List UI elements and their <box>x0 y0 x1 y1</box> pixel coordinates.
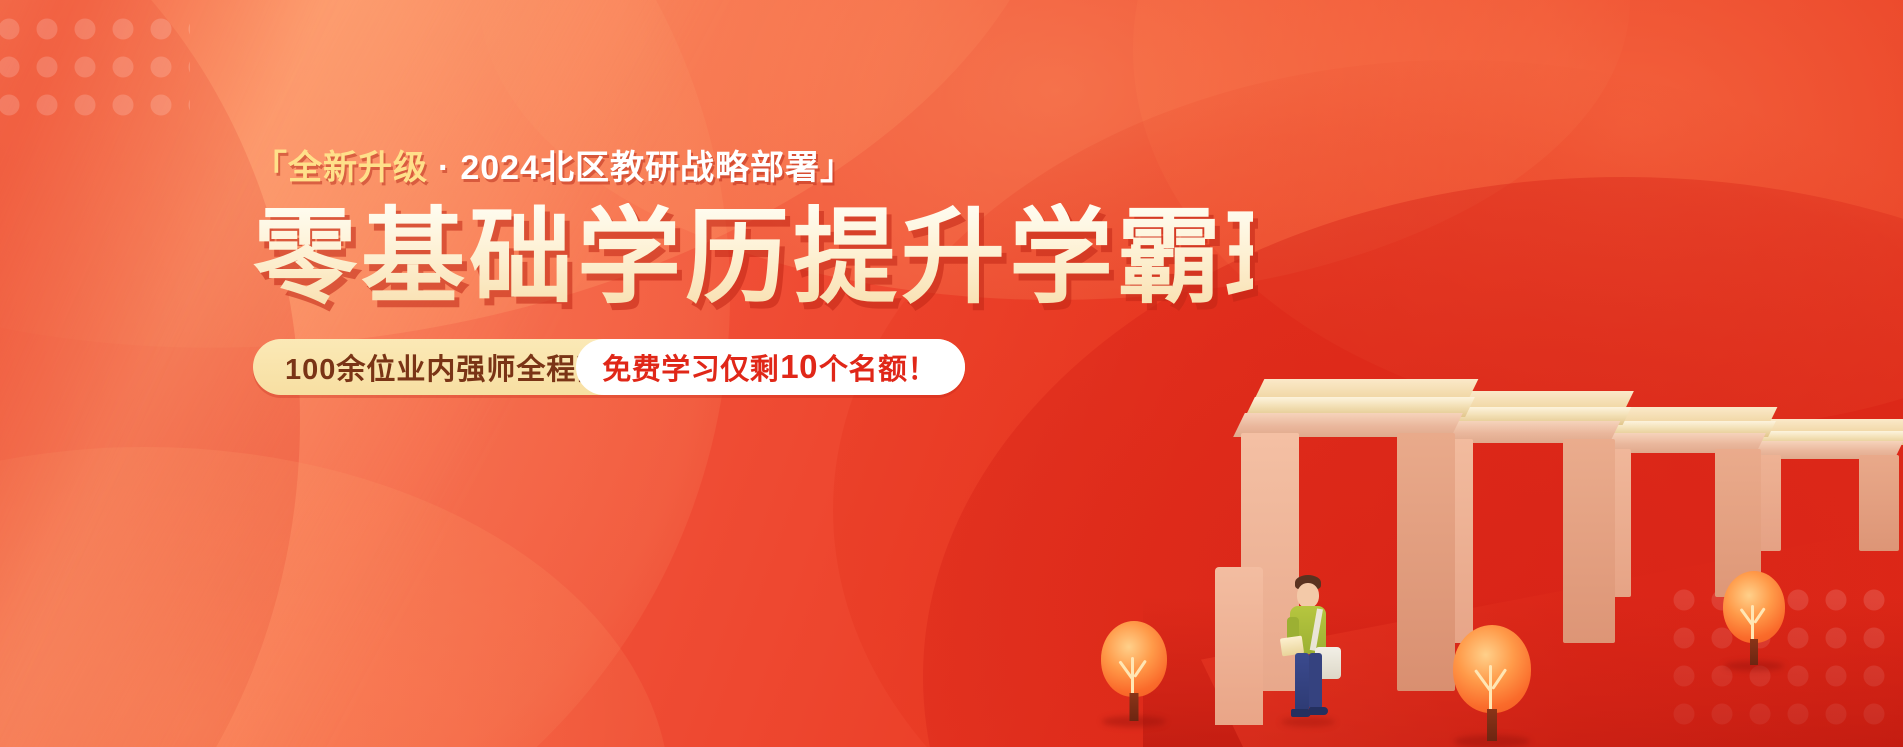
figure-head <box>1297 583 1319 608</box>
page-title: 零基础学历提升学霸班 <box>253 203 1253 313</box>
figure-shadow <box>1281 717 1335 727</box>
figure-leg-front <box>1295 653 1309 711</box>
figure-shoe-front <box>1291 709 1311 717</box>
student-figure <box>1273 575 1347 723</box>
figure-leg-back <box>1309 653 1322 709</box>
promo-banner: 「 全新升级 · 2024北区教研战略部署 」 零基础学历提升学霸班 100余位… <box>0 0 1903 747</box>
tree-left-trunk <box>1130 693 1139 721</box>
banner-copy: 「 全新升级 · 2024北区教研战略部署 」 零基础学历提升学霸班 100余位… <box>253 140 1253 395</box>
eyebrow-bracket-open: 「 <box>253 140 288 189</box>
pill-seats-badge: 免费学习仅剩 10 个名额！ <box>576 339 965 395</box>
tree-right-crown <box>1723 571 1785 643</box>
eyebrow-separator: · <box>428 149 460 188</box>
tree-right-trunk <box>1750 639 1758 665</box>
pill-seats-suffix: 个名额！ <box>819 346 937 388</box>
book-leg-2-right <box>1563 439 1615 643</box>
eyebrow-rest: 2024北区教研战略部署 <box>460 140 820 189</box>
banner-eyebrow: 「 全新升级 · 2024北区教研战略部署 」 <box>253 140 1253 189</box>
tree-right <box>1723 571 1785 665</box>
tree-left <box>1101 621 1167 721</box>
eyebrow-highlight: 全新升级 <box>288 140 428 189</box>
tree-left-crown <box>1101 621 1167 697</box>
highlight-pill-group: 100余位业内强师全程面授 免费学习仅剩 10 个名额！ <box>253 339 965 395</box>
tree-mid-trunk <box>1487 709 1497 741</box>
pill-seats-count: 10 <box>779 348 819 386</box>
eyebrow-bracket-close: 」 <box>820 140 855 189</box>
dot-grid-top-left-icon <box>0 10 190 118</box>
figure-shoe-back <box>1309 707 1328 715</box>
book-leg-4-right <box>1859 455 1899 551</box>
pill-seats-prefix: 免费学习仅剩 <box>602 346 779 388</box>
tree-mid-crown <box>1453 625 1531 713</box>
book-leg-1-right <box>1397 433 1455 691</box>
tree-mid <box>1453 625 1531 741</box>
doorway-pillar <box>1215 567 1263 725</box>
